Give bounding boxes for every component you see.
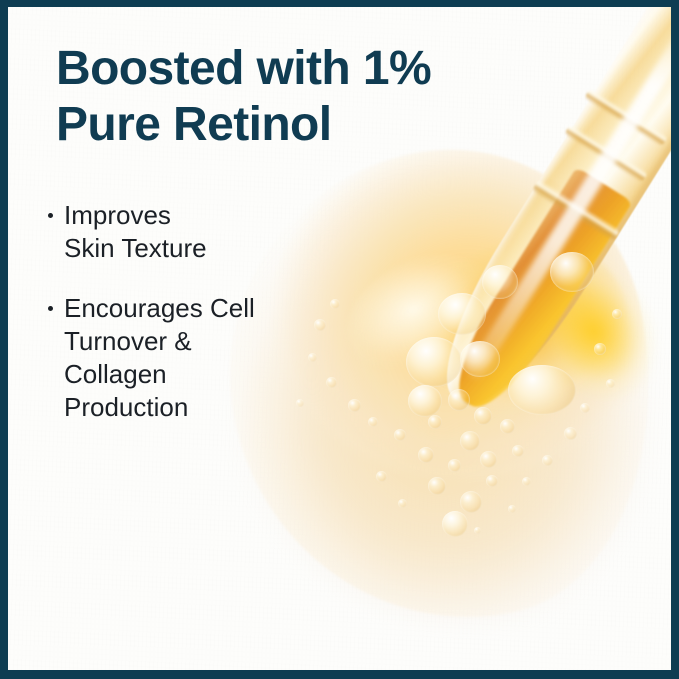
serum-bubble	[508, 505, 516, 513]
pipette-glass-band	[531, 179, 620, 243]
serum-bubble	[418, 447, 434, 463]
serum-bubble	[368, 417, 378, 427]
serum-puddle-core	[376, 212, 656, 466]
serum-bubble	[438, 293, 486, 335]
serum-bubble	[376, 471, 387, 482]
serum-bubble	[314, 319, 326, 331]
serum-bubble	[460, 431, 480, 451]
frame-border-top	[0, 0, 679, 7]
bullet-dot-icon	[48, 213, 53, 218]
serum-bubble	[486, 475, 498, 487]
benefit-text: Encourages Cell Turnover & Collagen Prod…	[64, 293, 255, 423]
serum-bubble	[326, 377, 337, 388]
serum-bubble	[482, 265, 518, 299]
card-canvas: Boosted with 1% Pure Retinol Improves Sk…	[8, 7, 671, 670]
serum-bubble	[480, 451, 497, 468]
serum-bubble	[564, 427, 577, 440]
serum-bubble	[508, 365, 576, 415]
pipette-glass-band	[584, 88, 669, 148]
serum-bubble	[612, 309, 622, 319]
list-item: Encourages Cell Turnover & Collagen Prod…	[46, 292, 306, 425]
benefit-text: Improves Skin Texture	[64, 200, 207, 263]
serum-bubble	[542, 455, 553, 466]
serum-bubble	[474, 527, 481, 534]
frame-border-bottom	[0, 670, 679, 679]
serum-bubble	[500, 419, 515, 434]
serum-bubble	[428, 415, 442, 429]
serum-bubble	[606, 379, 615, 388]
serum-bubble	[406, 337, 462, 387]
serum-bubble	[408, 385, 442, 417]
serum-bubble	[550, 252, 594, 292]
serum-bubble	[348, 399, 361, 412]
benefits-list: Improves Skin Texture Encourages Cell Tu…	[46, 199, 306, 425]
frame-border-right	[671, 0, 679, 679]
retinol-benefits-infographic: Boosted with 1% Pure Retinol Improves Sk…	[0, 0, 679, 679]
serum-bubble	[460, 491, 482, 513]
serum-bubble	[580, 403, 590, 413]
serum-bubble	[428, 477, 446, 495]
serum-cream-highlight	[329, 233, 519, 397]
page-title: Boosted with 1% Pure Retinol	[56, 41, 556, 152]
serum-bubble	[448, 459, 461, 472]
serum-bubble	[448, 389, 470, 411]
serum-bubble	[330, 299, 340, 309]
serum-bubble	[512, 445, 524, 457]
serum-bubble	[474, 407, 492, 425]
pipette-glass-band	[564, 124, 649, 184]
serum-bubble	[594, 343, 606, 355]
serum-highlight-hotspot	[519, 237, 671, 427]
pipette-amber-liquid	[440, 167, 633, 421]
serum-bubble	[460, 341, 500, 377]
list-item: Improves Skin Texture	[46, 199, 306, 266]
serum-bubble	[394, 429, 406, 441]
serum-bubble	[308, 353, 317, 362]
serum-bubble	[398, 499, 407, 508]
serum-bubble	[442, 511, 468, 537]
serum-bubble	[522, 477, 531, 486]
bullet-dot-icon	[48, 306, 53, 311]
frame-border-left	[0, 0, 8, 679]
